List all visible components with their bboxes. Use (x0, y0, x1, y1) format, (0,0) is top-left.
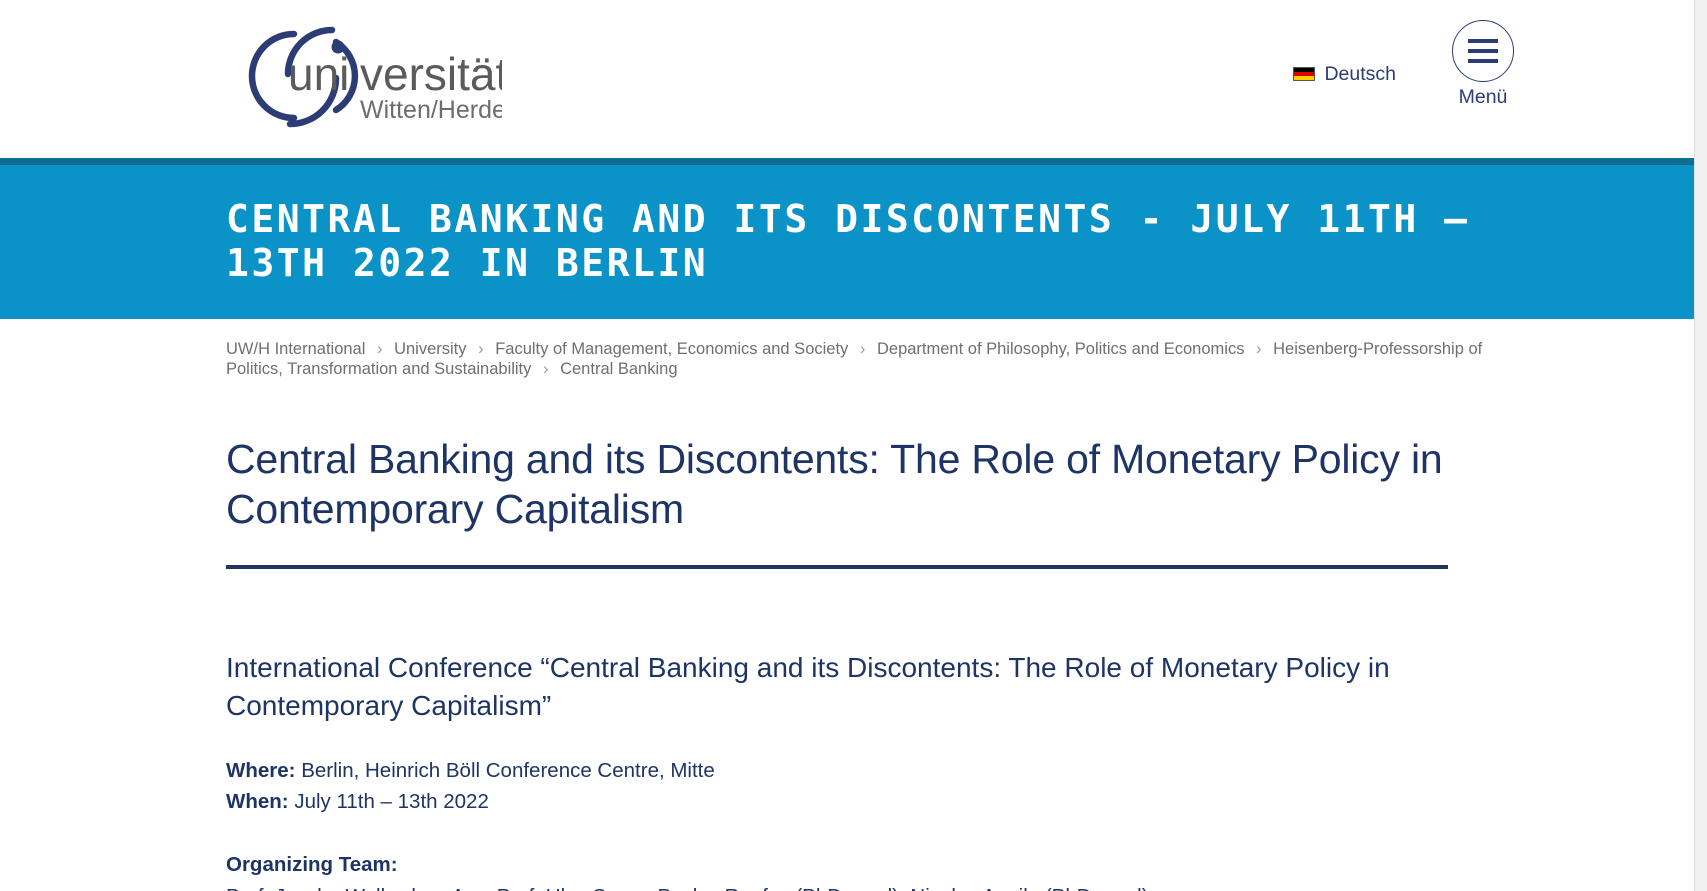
banner-title: Central Banking and its Discontents - Ju… (0, 197, 1694, 285)
menu-button-label: Menü (1459, 88, 1508, 108)
header-actions: Deutsch Menü (1293, 20, 1514, 108)
site-header: uni versität Witten/Herdecke Deutsch Men… (0, 0, 1694, 158)
main-content: Central Banking and its Discontents: The… (0, 434, 1694, 891)
breadcrumb-separator: › (853, 340, 873, 358)
menu-button[interactable]: Menü (1452, 20, 1514, 108)
organizing-team-heading: Organizing Team: (226, 853, 398, 876)
svg-text:versität: versität (360, 48, 502, 100)
organizing-team: Organizing Team: Prof. Joscha Wullweber;… (226, 849, 1514, 891)
page-title: Central Banking and its Discontents: The… (226, 434, 1448, 534)
title-divider (226, 565, 1448, 569)
language-switch-deutsch[interactable]: Deutsch (1293, 63, 1396, 108)
hamburger-icon (1452, 20, 1514, 82)
detail-label-where: Where: (226, 759, 295, 782)
language-switch-label: Deutsch (1324, 63, 1396, 86)
german-flag-icon (1293, 67, 1315, 81)
organizing-team-members: Prof. Joscha Wullweber; Ass. Prof. Ulas … (226, 885, 1149, 891)
page-scrollbar[interactable] (1694, 0, 1707, 891)
page-root: uni versität Witten/Herdecke Deutsch Men… (0, 0, 1694, 891)
breadcrumb-item-current: Central Banking (560, 360, 677, 378)
detail-label-when: When: (226, 790, 289, 813)
breadcrumb-separator: › (536, 360, 556, 378)
breadcrumb-separator: › (1249, 340, 1269, 358)
university-logo[interactable]: uni versität Witten/Herdecke (232, 12, 502, 134)
breadcrumb-item-0[interactable]: UW/H International (226, 340, 365, 358)
breadcrumb-separator: › (471, 340, 491, 358)
page-banner: Central Banking and its Discontents - Ju… (0, 158, 1694, 319)
breadcrumb-item-2[interactable]: Faculty of Management, Economics and Soc… (495, 340, 848, 358)
detail-value-where: Berlin, Heinrich Böll Conference Centre,… (301, 759, 715, 782)
breadcrumb-item-1[interactable]: University (394, 340, 466, 358)
scrollbar-thumb[interactable] (1695, 0, 1707, 250)
event-details: Where: Berlin, Heinrich Böll Conference … (226, 755, 1514, 817)
detail-value-when: July 11th – 13th 2022 (294, 790, 489, 813)
breadcrumb-separator: › (370, 340, 390, 358)
breadcrumb[interactable]: UW/H International › University › Facult… (0, 319, 1694, 379)
svg-text:Witten/Herdecke: Witten/Herdecke (360, 96, 502, 124)
breadcrumb-item-3[interactable]: Department of Philosophy, Politics and E… (877, 340, 1244, 358)
svg-text:uni: uni (288, 48, 349, 100)
conference-lead: International Conference “Central Bankin… (226, 649, 1456, 725)
